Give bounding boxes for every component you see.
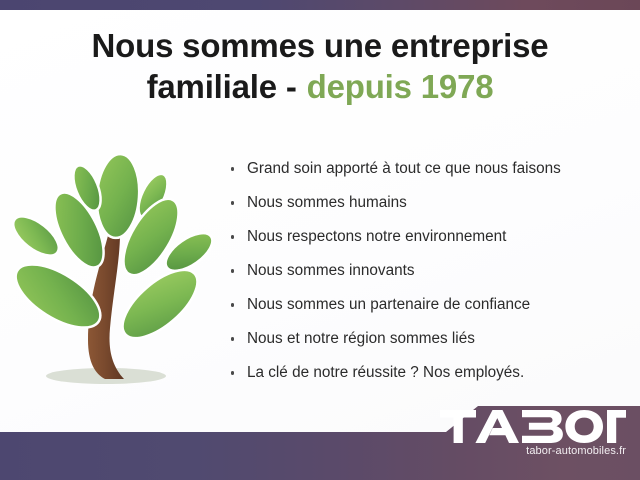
brand-block: tabor-automobiles.fr bbox=[436, 410, 626, 457]
list-item-label: Nous et notre région sommes liés bbox=[247, 330, 475, 348]
list-item-label: La clé de notre réussite ? Nos employés. bbox=[247, 364, 524, 382]
page-title-line-1: Nous sommes une entreprise bbox=[0, 26, 640, 67]
list-item: Nous sommes un partenaire de confiance bbox=[228, 288, 628, 322]
page-title-line-2-main: familiale - bbox=[147, 68, 297, 105]
list-item: Nous sommes humains bbox=[228, 186, 628, 220]
bullet-marker-icon bbox=[231, 371, 234, 374]
list-item-label: Nous respectons notre environnement bbox=[247, 228, 506, 246]
bullet-marker-icon bbox=[231, 337, 234, 340]
list-item: Nous et notre région sommes liés bbox=[228, 322, 628, 356]
list-item: Grand soin apporté à tout ce que nous fa… bbox=[228, 152, 628, 186]
list-item-label: Nous sommes humains bbox=[247, 194, 407, 212]
tabor-logo bbox=[440, 410, 626, 443]
tree-illustration bbox=[8, 148, 213, 393]
page-title-line-2: familiale -depuis 1978 bbox=[0, 67, 640, 108]
top-accent-bar bbox=[0, 0, 640, 10]
bullet-marker-icon bbox=[231, 235, 234, 238]
value-bullet-list: Grand soin apporté à tout ce que nous fa… bbox=[228, 152, 628, 390]
list-item: Nous respectons notre environnement bbox=[228, 220, 628, 254]
bullet-marker-icon bbox=[231, 201, 234, 204]
slide-canvas: Nous sommes une entreprise familiale -de… bbox=[0, 0, 640, 480]
brand-url: tabor-automobiles.fr bbox=[436, 445, 626, 457]
list-item: La clé de notre réussite ? Nos employés. bbox=[228, 356, 628, 390]
list-item: Nous sommes innovants bbox=[228, 254, 628, 288]
bullet-marker-icon bbox=[231, 167, 234, 170]
bullet-marker-icon bbox=[231, 269, 234, 272]
list-item-label: Nous sommes innovants bbox=[247, 262, 415, 280]
list-item-label: Nous sommes un partenaire de confiance bbox=[247, 296, 530, 314]
bullet-marker-icon bbox=[231, 303, 234, 306]
page-title-accent: depuis 1978 bbox=[307, 68, 494, 105]
page-title: Nous sommes une entreprise familiale -de… bbox=[0, 26, 640, 107]
list-item-label: Grand soin apporté à tout ce que nous fa… bbox=[247, 160, 561, 178]
